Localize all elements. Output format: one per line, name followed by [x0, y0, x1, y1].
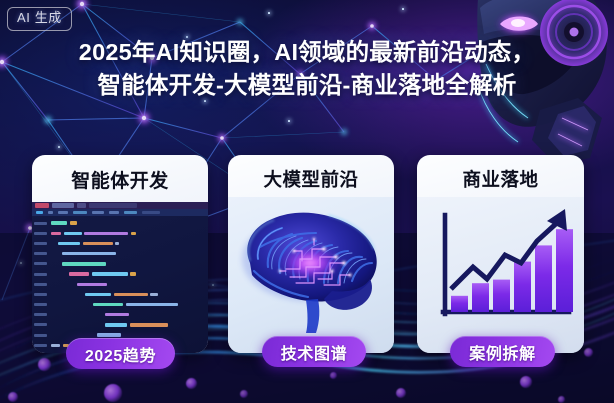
headline-line-2: 智能体开发-大模型前沿-商业落地全解析 — [0, 69, 614, 102]
pill-case-study[interactable]: 案例拆解 — [450, 336, 555, 367]
card-large-model-frontier[interactable]: 大模型前沿 — [228, 155, 394, 353]
pill-2025-trend[interactable]: 2025趋势 — [66, 338, 175, 369]
code-editor-screenshot — [32, 202, 208, 353]
pill-tech-map[interactable]: 技术图谱 — [262, 336, 366, 367]
code-editor-titlebar — [32, 202, 208, 209]
card-commercial-landing[interactable]: 商业落地 — [417, 155, 584, 353]
code-editor-menubar — [32, 209, 208, 216]
code-editor-body — [32, 216, 208, 353]
growth-bar-chart — [417, 199, 584, 333]
card-title: 大模型前沿 — [228, 155, 394, 192]
card-title: 商业落地 — [417, 155, 584, 192]
headline-line-1: 2025年AI知识圈，AI领域的最新前沿动态， — [0, 36, 614, 69]
page-title: 2025年AI知识圈，AI领域的最新前沿动态， 智能体开发-大模型前沿-商业落地… — [0, 36, 614, 101]
poster-canvas: AI 生成 2025年AI知识圈，AI领域的最新前沿动态， 智能体开发-大模型前… — [0, 0, 614, 403]
card-agent-development[interactable]: 智能体开发 — [32, 155, 208, 353]
glowing-brain-illustration — [228, 201, 394, 333]
ai-generated-badge: AI 生成 — [7, 7, 72, 31]
card-title: 智能体开发 — [32, 155, 208, 193]
